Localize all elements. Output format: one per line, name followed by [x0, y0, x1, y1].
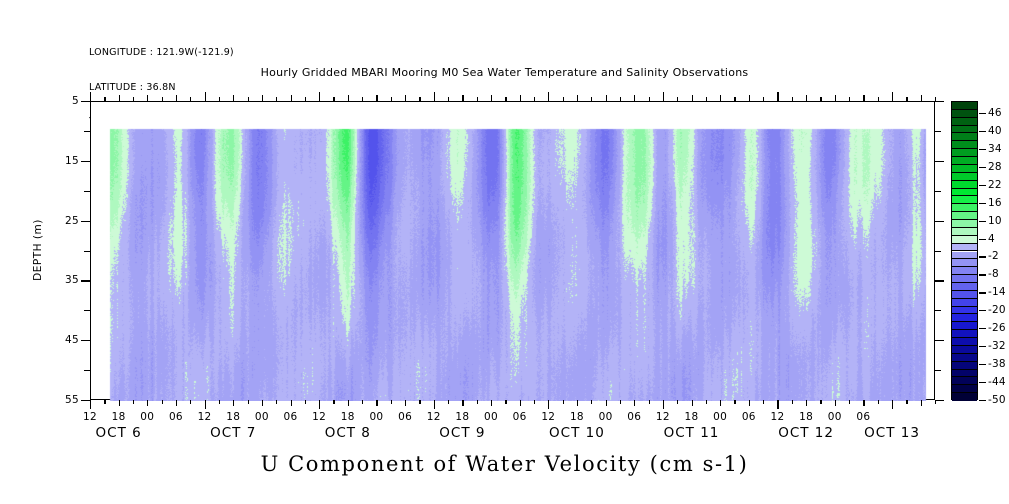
x-tick-label: 18: [112, 411, 126, 423]
colorbar-band: [952, 314, 977, 322]
x-tick-top: [620, 97, 621, 101]
x-tick-bottom: [921, 400, 922, 406]
x-tick-label: 00: [369, 411, 383, 423]
x-tick-bottom: [591, 400, 592, 404]
x-tick-bottom: [219, 400, 220, 404]
colorbar-tick-label: 34: [988, 143, 1002, 155]
x-tick-bottom: [233, 400, 234, 406]
colorbar-tick-label: 16: [988, 197, 1002, 209]
colorbar-band: [952, 141, 977, 149]
longitude-label: LONGITUDE : 121.9W(-121.9): [89, 47, 234, 59]
x-tick-top: [333, 97, 334, 101]
x-tick-label: 12: [83, 411, 97, 423]
page-title: Hourly Gridded MBARI Mooring M0 Sea Wate…: [0, 66, 1009, 79]
x-tick-top: [677, 97, 678, 101]
x-tick-bottom: [692, 400, 693, 406]
x-tick-bottom: [548, 400, 549, 409]
colorbar-tick: [979, 274, 986, 275]
x-tick-top: [606, 95, 607, 101]
colorbar-tick-label: 4: [988, 233, 995, 245]
y-tick-label: 15: [54, 155, 79, 167]
x-tick-label: 12: [656, 411, 670, 423]
y-tick-label: 55: [54, 394, 79, 406]
colorbar-band: [952, 189, 977, 197]
colorbar-band: [952, 133, 977, 141]
colorbar-tick: [979, 310, 986, 311]
x-tick-label: 00: [713, 411, 727, 423]
colorbar-band: [952, 204, 977, 212]
x-tick-bottom: [835, 400, 836, 406]
colorbar-tick: [979, 382, 986, 383]
colorbar-band: [952, 283, 977, 291]
colorbar-tick: [979, 400, 986, 401]
colorbar-tick: [979, 185, 986, 186]
colorbar-band: [952, 126, 977, 134]
x-tick-top: [205, 92, 206, 101]
x-tick-top: [104, 97, 105, 101]
y-tick-label: 35: [54, 274, 79, 286]
colorbar-tick-label: -2: [988, 250, 999, 262]
colorbar: [951, 101, 978, 400]
x-tick-bottom: [634, 400, 635, 406]
y-tick-label: 45: [54, 334, 79, 346]
x-tick-bottom: [720, 400, 721, 406]
x-tick-top: [248, 97, 249, 101]
plot-frame: [90, 101, 935, 400]
x-tick-bottom: [462, 400, 463, 406]
x-tick-top: [806, 95, 807, 101]
x-tick-bottom: [620, 400, 621, 404]
y-tick-left: [84, 191, 90, 192]
colorbar-tick: [979, 346, 986, 347]
x-tick-bottom: [133, 400, 134, 404]
x-tick-top: [921, 95, 922, 101]
x-tick-top: [663, 92, 664, 101]
colorbar-tick-label: -38: [988, 358, 1006, 370]
y-tick-label: 5: [54, 95, 79, 107]
x-tick-top: [391, 97, 392, 101]
colorbar-tick-label: -26: [988, 322, 1006, 334]
x-tick-top: [906, 97, 907, 101]
x-tick-top: [849, 97, 850, 101]
y-tick-right: [935, 280, 944, 281]
colorbar-tick-label: -50: [988, 394, 1006, 406]
y-tick-right: [935, 191, 941, 192]
x-tick-bottom: [376, 400, 377, 406]
colorbar-band: [952, 299, 977, 307]
x-day-label: OCT 11: [664, 425, 720, 441]
colorbar-band: [952, 165, 977, 173]
x-tick-top: [792, 97, 793, 101]
x-tick-top: [462, 95, 463, 101]
y-tick-left: [81, 280, 90, 281]
colorbar-tick: [979, 221, 986, 222]
x-tick-top: [348, 95, 349, 101]
x-tick-bottom: [563, 400, 564, 404]
x-tick-label: 06: [742, 411, 756, 423]
colorbar-tick-label: 46: [988, 107, 1002, 119]
x-tick-label: 00: [828, 411, 842, 423]
y-tick-left: [84, 251, 90, 252]
colorbar-band: [952, 149, 977, 157]
colorbar-tick-label: 40: [988, 125, 1002, 137]
y-tick-right: [935, 221, 944, 222]
x-tick-bottom: [649, 400, 650, 404]
x-tick-bottom: [706, 400, 707, 404]
colorbar-band: [952, 228, 977, 236]
y-tick-right: [935, 131, 941, 132]
x-tick-label: 00: [484, 411, 498, 423]
x-tick-bottom: [448, 400, 449, 404]
x-tick-bottom: [491, 400, 492, 406]
x-tick-bottom: [505, 400, 506, 404]
colorbar-band: [952, 275, 977, 283]
x-tick-label: 06: [284, 411, 298, 423]
colorbar-tick: [979, 167, 986, 168]
x-tick-bottom: [763, 400, 764, 404]
colorbar-band: [952, 291, 977, 299]
colorbar-tick: [979, 292, 986, 293]
colorbar-tick: [979, 256, 986, 257]
colorbar-tick: [979, 149, 986, 150]
x-tick-top: [692, 95, 693, 101]
x-tick-bottom: [677, 400, 678, 404]
x-tick-label: 18: [799, 411, 813, 423]
colorbar-band: [952, 385, 977, 393]
colorbar-tick: [979, 113, 986, 114]
x-tick-bottom: [749, 400, 750, 406]
x-day-label: OCT 6: [96, 425, 142, 441]
x-tick-top: [548, 92, 549, 101]
x-tick-bottom: [205, 400, 206, 409]
x-tick-bottom: [176, 400, 177, 406]
colorbar-tick-label: -32: [988, 340, 1006, 352]
y-tick-left: [81, 340, 90, 341]
x-tick-top: [763, 97, 764, 101]
colorbar-tick: [979, 203, 986, 204]
x-tick-top: [591, 97, 592, 101]
colorbar-tick: [979, 328, 986, 329]
x-tick-bottom: [820, 400, 821, 404]
x-tick-bottom: [849, 400, 850, 404]
x-tick-top: [534, 97, 535, 101]
x-tick-label: 06: [398, 411, 412, 423]
y-tick-left: [81, 221, 90, 222]
x-tick-bottom: [419, 400, 420, 404]
colorbar-band: [952, 354, 977, 362]
x-tick-bottom: [104, 400, 105, 404]
colorbar-band: [952, 173, 977, 181]
figure-caption: U Component of Water Velocity (cm s-1): [0, 452, 1009, 476]
x-tick-top: [362, 97, 363, 101]
x-tick-bottom: [892, 400, 893, 409]
y-tick-right: [935, 161, 944, 162]
x-tick-label: 12: [427, 411, 441, 423]
colorbar-band: [952, 346, 977, 354]
colorbar-band: [952, 236, 977, 244]
x-tick-label: 18: [685, 411, 699, 423]
colorbar-tick-label: -20: [988, 304, 1006, 316]
colorbar-band: [952, 244, 977, 252]
x-tick-top: [376, 95, 377, 101]
x-tick-label: 18: [455, 411, 469, 423]
x-tick-label: 06: [169, 411, 183, 423]
x-tick-bottom: [906, 400, 907, 404]
colorbar-tick-label: 28: [988, 161, 1002, 173]
x-tick-top: [720, 95, 721, 101]
x-tick-top: [119, 95, 120, 101]
colorbar-band: [952, 181, 977, 189]
x-tick-top: [878, 97, 879, 101]
x-tick-top: [777, 92, 778, 101]
x-tick-top: [291, 95, 292, 101]
x-tick-top: [176, 95, 177, 101]
x-tick-bottom: [434, 400, 435, 409]
colorbar-band: [952, 102, 977, 110]
colorbar-band: [952, 377, 977, 385]
heatmap-canvas: [91, 102, 936, 401]
colorbar-band: [952, 393, 977, 401]
x-tick-bottom: [276, 400, 277, 404]
x-tick-top: [706, 97, 707, 101]
x-tick-top: [262, 95, 263, 101]
x-tick-bottom: [734, 400, 735, 404]
x-tick-bottom: [606, 400, 607, 406]
colorbar-tick-label: -8: [988, 268, 999, 280]
x-tick-top: [563, 97, 564, 101]
x-tick-top: [892, 92, 893, 101]
colorbar-band: [952, 157, 977, 165]
x-day-label: OCT 9: [439, 425, 485, 441]
colorbar-band: [952, 362, 977, 370]
x-tick-bottom: [577, 400, 578, 406]
x-tick-label: 18: [341, 411, 355, 423]
x-tick-top: [319, 92, 320, 101]
colorbar-tick-label: 22: [988, 179, 1002, 191]
x-tick-bottom: [291, 400, 292, 406]
x-tick-top: [749, 95, 750, 101]
colorbar-tick: [979, 364, 986, 365]
x-tick-bottom: [391, 400, 392, 404]
x-tick-bottom: [162, 400, 163, 404]
colorbar-band: [952, 322, 977, 330]
x-tick-top: [634, 95, 635, 101]
y-tick-left: [81, 101, 90, 102]
x-tick-label: 06: [627, 411, 641, 423]
y-tick-left: [84, 370, 90, 371]
colorbar-tick-label: -44: [988, 376, 1006, 388]
x-tick-top: [233, 95, 234, 101]
x-tick-bottom: [534, 400, 535, 404]
x-tick-bottom: [777, 400, 778, 409]
colorbar-band: [952, 259, 977, 267]
x-tick-bottom: [262, 400, 263, 406]
x-tick-top: [147, 95, 148, 101]
x-tick-label: 00: [599, 411, 613, 423]
y-tick-label: 25: [54, 215, 79, 227]
latitude-label: LATITUDE : 36.8N: [89, 82, 234, 94]
x-tick-bottom: [663, 400, 664, 409]
x-tick-top: [219, 97, 220, 101]
x-tick-bottom: [362, 400, 363, 404]
x-tick-top: [649, 97, 650, 101]
x-tick-top: [505, 97, 506, 101]
colorbar-band: [952, 338, 977, 346]
y-tick-right: [935, 400, 944, 401]
x-tick-label: 18: [570, 411, 584, 423]
colorbar-tick-label: -14: [988, 286, 1006, 298]
x-day-label: OCT 8: [325, 425, 371, 441]
x-tick-bottom: [190, 400, 191, 404]
x-tick-label: 12: [770, 411, 784, 423]
x-tick-bottom: [405, 400, 406, 406]
x-tick-top: [577, 95, 578, 101]
x-tick-bottom: [348, 400, 349, 406]
x-tick-bottom: [863, 400, 864, 406]
y-tick-right: [935, 101, 944, 102]
x-tick-bottom: [520, 400, 521, 406]
x-tick-label: 06: [513, 411, 527, 423]
y-tick-left: [84, 131, 90, 132]
y-tick-left: [81, 161, 90, 162]
x-tick-top: [305, 97, 306, 101]
x-tick-top: [419, 97, 420, 101]
colorbar-tick: [979, 131, 986, 132]
x-tick-bottom: [878, 400, 879, 404]
x-tick-top: [133, 97, 134, 101]
colorbar-tick: [979, 239, 986, 240]
y-tick-right: [935, 310, 941, 311]
x-tick-label: 18: [226, 411, 240, 423]
x-tick-label: 00: [255, 411, 269, 423]
x-tick-top: [162, 97, 163, 101]
colorbar-band: [952, 118, 977, 126]
x-tick-bottom: [119, 400, 120, 406]
x-tick-top: [405, 95, 406, 101]
x-tick-label: 12: [312, 411, 326, 423]
x-tick-top: [448, 97, 449, 101]
x-tick-top: [491, 95, 492, 101]
colorbar-band: [952, 252, 977, 260]
x-day-label: OCT 12: [778, 425, 834, 441]
x-tick-top: [276, 97, 277, 101]
x-tick-bottom: [806, 400, 807, 406]
x-tick-label: 12: [541, 411, 555, 423]
colorbar-band: [952, 196, 977, 204]
x-tick-top: [190, 97, 191, 101]
x-tick-bottom: [248, 400, 249, 404]
x-tick-bottom: [147, 400, 148, 406]
x-tick-label: 06: [856, 411, 870, 423]
x-tick-top: [835, 95, 836, 101]
x-tick-label: 12: [198, 411, 212, 423]
x-tick-top: [90, 92, 91, 101]
y-tick-right: [935, 251, 941, 252]
x-tick-bottom: [792, 400, 793, 404]
x-tick-bottom: [477, 400, 478, 404]
x-day-label: OCT 7: [210, 425, 256, 441]
x-tick-bottom: [319, 400, 320, 409]
x-day-label: OCT 13: [864, 425, 920, 441]
colorbar-band: [952, 220, 977, 228]
colorbar-band: [952, 307, 977, 315]
x-tick-bottom: [333, 400, 334, 404]
y-tick-left: [81, 400, 90, 401]
y-tick-left: [84, 310, 90, 311]
x-tick-top: [477, 97, 478, 101]
colorbar-band: [952, 267, 977, 275]
x-tick-label: 00: [140, 411, 154, 423]
x-day-label: OCT 10: [549, 425, 605, 441]
y-tick-right: [935, 370, 941, 371]
x-tick-bottom: [305, 400, 306, 404]
x-tick-top: [820, 97, 821, 101]
y-axis-title: DEPTH (m): [32, 219, 44, 281]
x-tick-top: [434, 92, 435, 101]
x-tick-bottom: [90, 400, 91, 409]
y-tick-right: [935, 340, 944, 341]
colorbar-tick-label: 10: [988, 215, 1002, 227]
colorbar-band: [952, 110, 977, 118]
colorbar-band: [952, 330, 977, 338]
x-tick-top: [734, 97, 735, 101]
colorbar-band: [952, 212, 977, 220]
x-tick-top: [520, 95, 521, 101]
colorbar-band: [952, 370, 977, 378]
x-tick-top: [863, 95, 864, 101]
